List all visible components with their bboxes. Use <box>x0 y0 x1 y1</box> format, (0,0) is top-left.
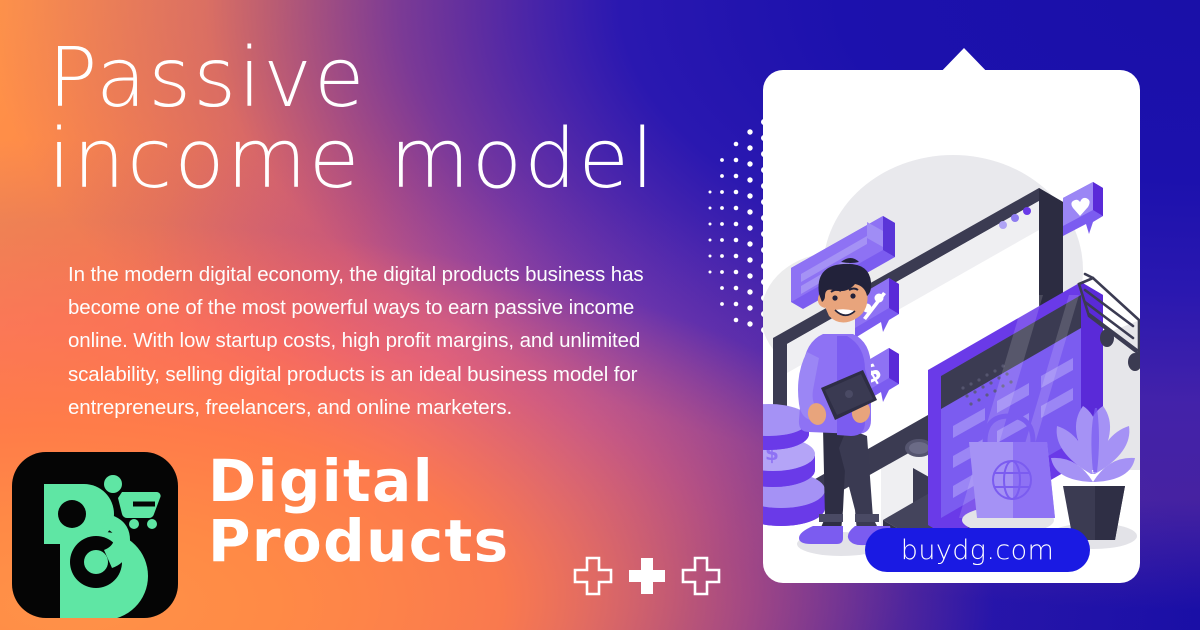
plus-decorations <box>573 556 721 596</box>
page-title: Passive income model <box>48 38 748 200</box>
body-paragraph: In the modern digital economy, the digit… <box>68 258 693 424</box>
illustration-card: $ <box>763 70 1140 583</box>
brand-logo <box>12 452 178 618</box>
plus-outline-icon <box>573 556 613 596</box>
promo-banner: Passive income model In the modern digit… <box>0 0 1200 630</box>
plus-outline-icon <box>681 556 721 596</box>
brand-name: Digital Products <box>208 452 510 571</box>
bd-monogram-icon <box>12 452 178 618</box>
ecommerce-isometric-illustration-icon: $ <box>763 70 1140 583</box>
plus-filled-icon <box>627 556 667 596</box>
website-url-badge[interactable]: buydg.com <box>865 528 1090 572</box>
website-url-text: buydg.com <box>901 535 1054 566</box>
